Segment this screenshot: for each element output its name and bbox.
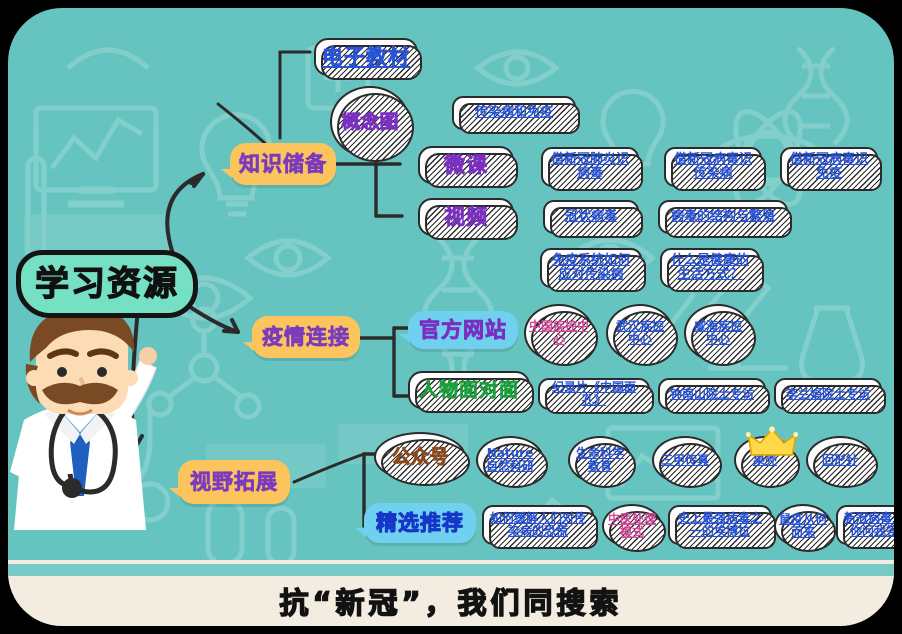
node-face-to-face[interactable]: 人物面对面 [408,371,530,409]
footer-banner: 抗“新冠”，我们同搜索 [8,560,894,626]
leaf-corona[interactable]: 冠状病毒 [543,200,639,234]
leaf-label: 李兰娟院士专访 [786,388,870,401]
leaf-lilanjuan[interactable]: 李兰娟院士专访 [774,378,882,410]
leaf-label: 中医处理模式 [607,513,657,539]
leaf-infectious-immunity[interactable]: 传染病和免疫 [452,96,576,130]
leaf-label: 借新冠病毒识传染病 [671,153,755,181]
leaf-label: 生命科学教育 [573,447,627,473]
leaf-china-cdc[interactable]: 中国疾控中心 [524,304,594,362]
node-official-site-label: 官方网站 [419,319,507,342]
leaf-qa[interactable]: 新冠病毒之你问我答 [836,505,894,545]
node-official-account-label: 公众号 [391,447,448,468]
branch-node-epidemic[interactable]: 疫情连接 [252,316,360,358]
node-video-label: 视频 [444,206,488,229]
node-official-site[interactable]: 官方网站 [408,311,518,349]
leaf-panic[interactable]: 如何缓解人们对传染病的恐慌 [482,505,594,545]
mindmap-board: 学习资源 [8,8,894,626]
leaf-doc-chinaface[interactable]: 纪录片《中国面孔》 [538,378,650,410]
rounded-frame: 学习资源 [0,0,902,634]
node-featured[interactable]: 精选推荐 [364,503,476,543]
leaf-label: Nature 自然科研 [486,447,534,473]
footer-stripe [8,564,894,576]
node-ebook-label: 电子教材 [322,46,410,69]
branch-node-vision[interactable]: 视野拓展 [178,460,290,504]
node-video[interactable]: 视频 [418,198,514,236]
leaf-label: 回形针 [822,454,858,467]
leaf-label: 三甲传真 [661,454,709,467]
leaf-label: 如何缓解人们对传染病的恐慌 [489,512,587,538]
leaf-label: 什么是健康的生活方式？ [667,254,753,282]
leaf-sanjia[interactable]: 三甲传真 [652,436,718,484]
node-featured-label: 精选推荐 [376,512,464,535]
leaf-label: 钟南山院士专访 [670,388,754,401]
footer-title: 抗“新冠”，我们同搜索 [8,580,894,622]
branch-node-knowledge[interactable]: 知识储备 [230,143,336,185]
leaf-covid-immunity[interactable]: 借新冠病毒识免疫 [780,147,878,187]
node-microlesson-label: 微课 [444,154,488,177]
leaf-label: 借新冠肺炎识病毒 [548,153,632,181]
leaf-nature[interactable]: Nature 自然科研 [476,436,544,484]
node-official-account[interactable]: 公众号 [374,432,466,482]
leaf-label: 新冠病毒之你问我答 [843,512,894,538]
leaf-wuhan-cdc[interactable]: 武汉疾控中心 [606,304,674,362]
leaf-immune-system[interactable]: 免疫系统如何应对传染病 [540,248,642,288]
leaf-label: 纪录片《中国面孔》 [545,381,643,407]
leaf-tcm[interactable]: 中医处理模式 [602,504,662,548]
leaf-zhongnanshan[interactable]: 钟南山院士专访 [658,378,766,410]
leaf-paperclip[interactable]: 回形针 [806,436,874,484]
crown-icon [746,426,798,460]
node-concept-map-label: 概念图 [341,112,398,133]
leaf-plague[interactable]: 鼠疫从何而来 [774,504,832,548]
leaf-label: 借新冠病毒识免疫 [787,153,871,181]
leaf-label: 中国疾控中心 [529,320,589,346]
leaf-healthy-life[interactable]: 什么是健康的生活方式？ [660,248,760,288]
leaf-label: 冠状病毒 [565,210,617,224]
node-microlesson[interactable]: 微课 [418,146,514,184]
leaf-weihai-cdc[interactable]: 威海疾控中心 [684,304,752,362]
node-ebook[interactable]: 电子教材 [314,38,418,76]
leaf-life-science[interactable]: 生命科学教育 [568,436,632,484]
node-face-to-face-label: 人物面对面 [419,380,519,401]
leaf-covid-infectious[interactable]: 借新冠病毒识传染病 [664,147,762,187]
leaf-label: 威海疾控中心 [689,320,747,346]
leaf-label: 武汉疾控中心 [611,320,669,346]
central-node[interactable]: 学习资源 [16,250,198,318]
doctor-illustration [8,298,187,558]
leaf-label: 病毒的结构与繁殖 [671,210,775,224]
node-concept-map[interactable]: 概念图 [330,86,410,158]
leaf-covid-virus[interactable]: 借新冠肺炎识病毒 [541,147,639,187]
leaf-label: 鼠疫从何而来 [779,513,827,539]
leaf-label: 史上最强病毒之一的埃博拉 [675,512,765,538]
leaf-structure[interactable]: 病毒的结构与繁殖 [658,200,788,234]
infographic-canvas: 学习资源 [0,0,902,634]
leaf-ebola[interactable]: 史上最强病毒之一的埃博拉 [668,505,772,545]
leaf-label: 免疫系统如何应对传染病 [547,254,635,282]
leaf-label: 传染病和免疫 [475,106,553,120]
